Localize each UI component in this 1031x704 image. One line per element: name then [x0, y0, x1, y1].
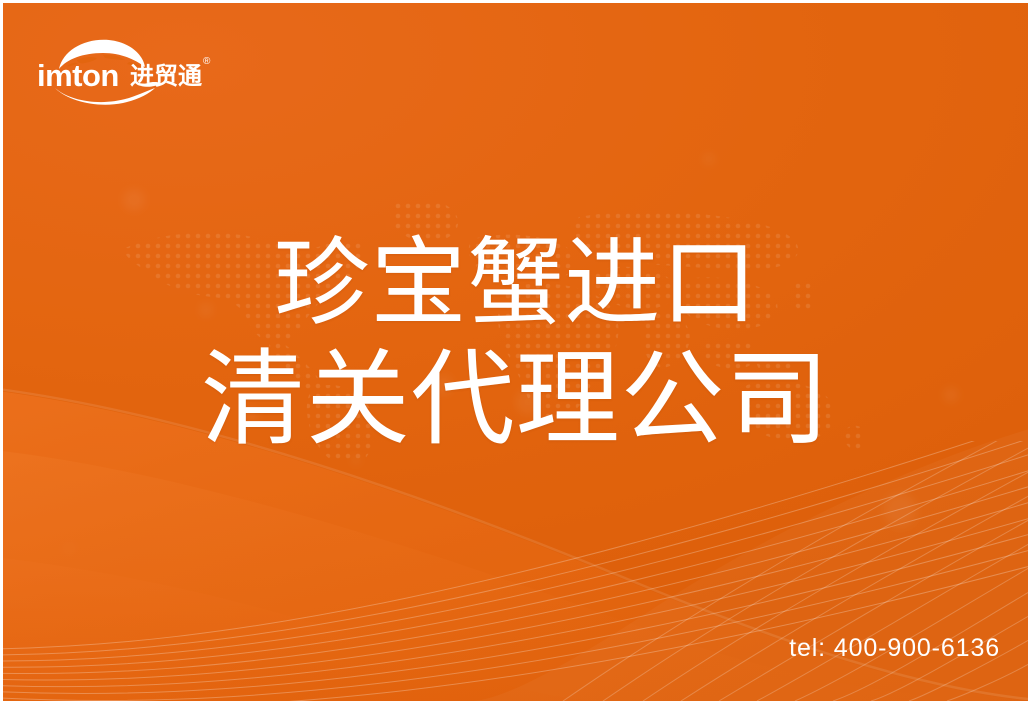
trademark-icon: ®	[203, 56, 211, 67]
brand-logo: imton 进贸通 ®	[37, 36, 219, 102]
page-title: 珍宝蟹进口 清关代理公司	[3, 235, 1031, 451]
promo-banner: imton 进贸通 ® 珍宝蟹进口 清关代理公司 tel: 400-900-61…	[0, 0, 1031, 704]
logo-latin-text: imton	[37, 58, 119, 93]
title-line-1: 珍宝蟹进口	[3, 235, 1031, 331]
logo-chinese-text: 进贸通	[130, 62, 202, 90]
contact-phone: tel: 400-900-6136	[789, 634, 1000, 663]
title-line-2: 清关代理公司	[3, 347, 1031, 451]
